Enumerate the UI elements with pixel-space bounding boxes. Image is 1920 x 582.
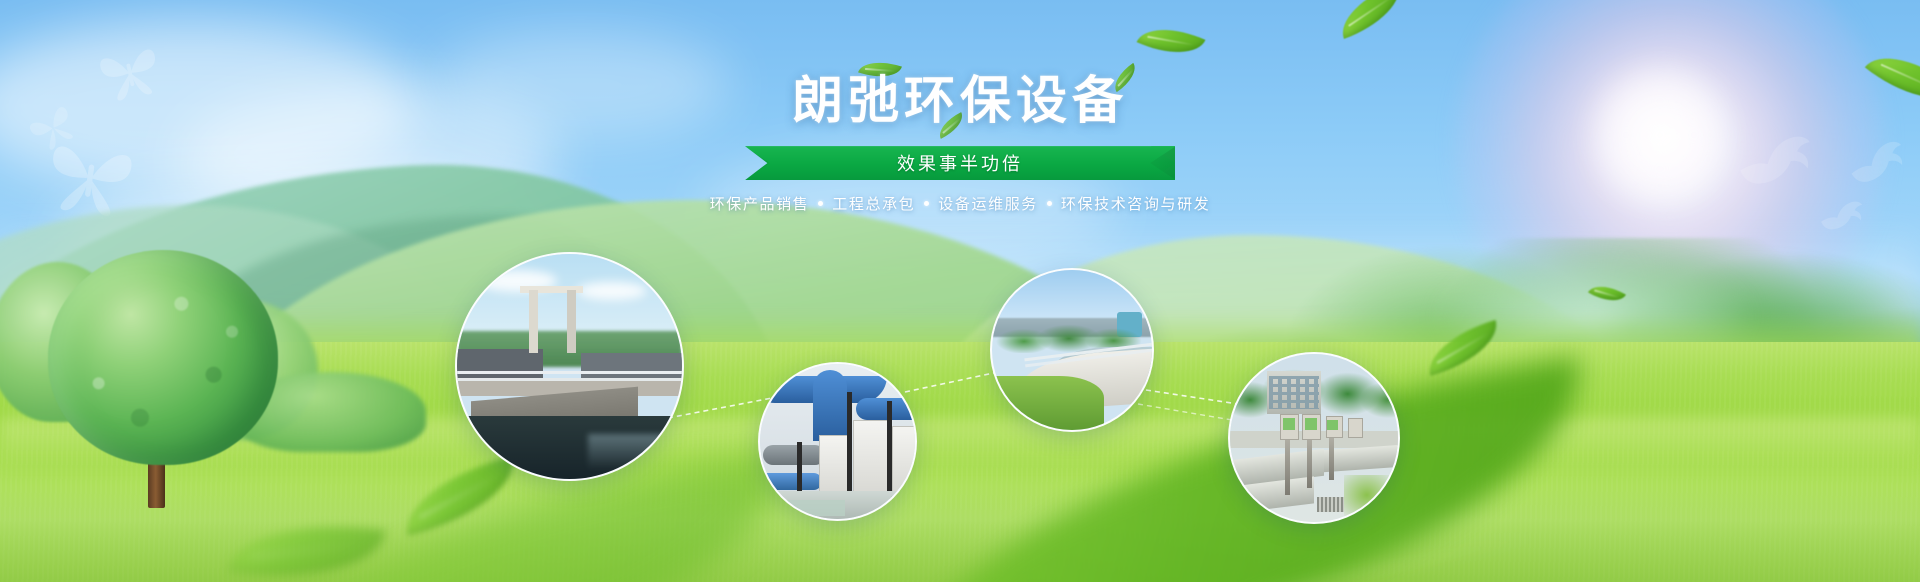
bubble-photo — [992, 270, 1152, 430]
photo-bubble-equipment-room[interactable] — [758, 362, 917, 521]
banner-title: 朗弛环保设备 — [0, 74, 1920, 130]
ribbon-label: 效果事半功倍 — [745, 146, 1175, 180]
bubble-photo — [1230, 354, 1398, 522]
separator-dot-icon — [818, 201, 823, 206]
slogan-ribbon: 效果事半功倍 — [745, 146, 1175, 180]
bubble-photo — [760, 364, 915, 519]
hero-banner: 朗弛环保设备 效果事半功倍 环保产品销售 工程总承包 设备运维服务 环保技术咨询… — [0, 0, 1920, 582]
ribbon-wrapper: 效果事半功倍 — [0, 146, 1920, 180]
service-item: 环保技术咨询与研发 — [1061, 193, 1210, 214]
photo-bubble-sluice-gates[interactable] — [1228, 352, 1400, 524]
photo-bubble-basin-walkway[interactable] — [990, 268, 1154, 432]
service-item: 设备运维服务 — [938, 193, 1038, 214]
service-item: 工程总承包 — [832, 193, 915, 214]
separator-dot-icon — [1047, 201, 1052, 206]
headline-block: 朗弛环保设备 效果事半功倍 环保产品销售 工程总承包 设备运维服务 环保技术咨询… — [0, 74, 1920, 214]
services-list: 环保产品销售 工程总承包 设备运维服务 环保技术咨询与研发 — [0, 193, 1920, 214]
separator-dot-icon — [924, 201, 929, 206]
bubble-photo — [457, 254, 682, 479]
service-item: 环保产品销售 — [710, 193, 810, 214]
photo-bubble-wastewater-tanks[interactable] — [455, 252, 684, 481]
